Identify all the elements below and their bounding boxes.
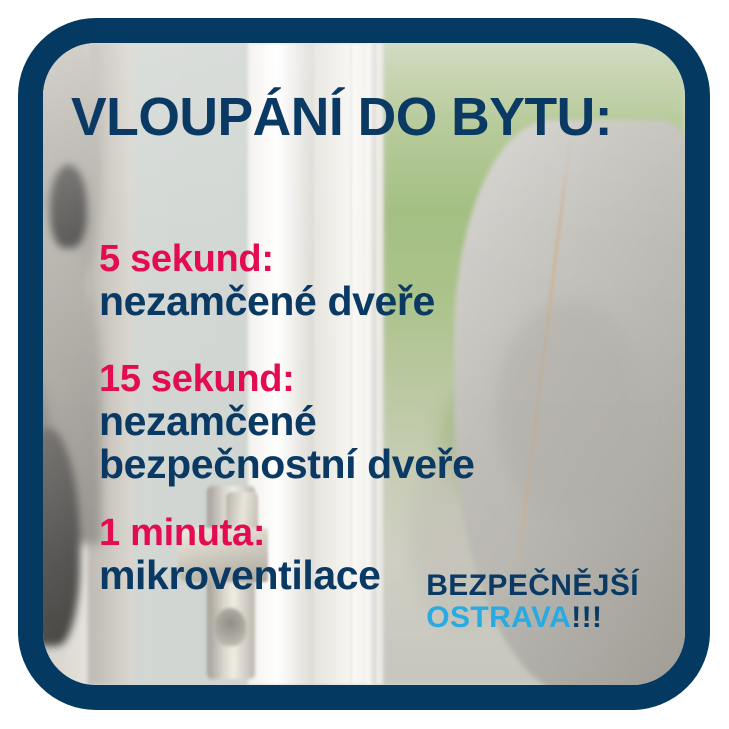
logo-line-bezpecnejsi: BEZPEČNĚJŠÍ xyxy=(426,571,639,601)
logo-line-ostrava: OSTRAVA!!! xyxy=(426,603,639,633)
info-block-3-desc-line1: mikroventilace xyxy=(99,552,381,598)
info-block-3-time: 1 minuta: xyxy=(99,513,381,554)
info-block-1-time: 5 sekund: xyxy=(99,239,435,280)
info-block-2-desc-line2: bezpečnostní dveře xyxy=(99,443,475,486)
info-block-2-time: 15 sekund: xyxy=(99,359,475,400)
info-block-1-description: nezamčené dveře xyxy=(99,280,435,323)
page-title: VLOUPÁNÍ DO BYTU: xyxy=(71,90,612,144)
info-block-1-desc-line1: nezamčené dveře xyxy=(99,278,435,324)
poster-canvas: VLOUPÁNÍ DO BYTU: 5 sekund: nezamčené dv… xyxy=(0,0,729,729)
info-block-2-description: nezamčené bezpečnostní dveře xyxy=(99,400,475,487)
info-block-3-description: mikroventilace xyxy=(99,554,381,597)
door-lock-keyhole-icon xyxy=(214,608,246,647)
sleeve-fold-icon xyxy=(496,300,646,520)
info-block-2-desc-line1: nezamčené xyxy=(99,398,316,444)
info-block-3: 1 minuta: mikroventilace xyxy=(99,513,381,597)
bezpecnejsi-ostrava-logo[interactable]: BEZPEČNĚJŠÍ OSTRAVA!!! xyxy=(426,571,639,633)
logo-exclamation-marks: !!! xyxy=(571,601,602,634)
info-block-2: 15 sekund: nezamčené bezpečnostní dveře xyxy=(99,359,475,487)
logo-city-text: OSTRAVA xyxy=(426,601,571,634)
gloved-hand-upper-icon xyxy=(50,165,87,248)
poster-navy-frame: VLOUPÁNÍ DO BYTU: 5 sekund: nezamčené dv… xyxy=(18,18,710,710)
info-block-1: 5 sekund: nezamčené dveře xyxy=(99,239,435,323)
